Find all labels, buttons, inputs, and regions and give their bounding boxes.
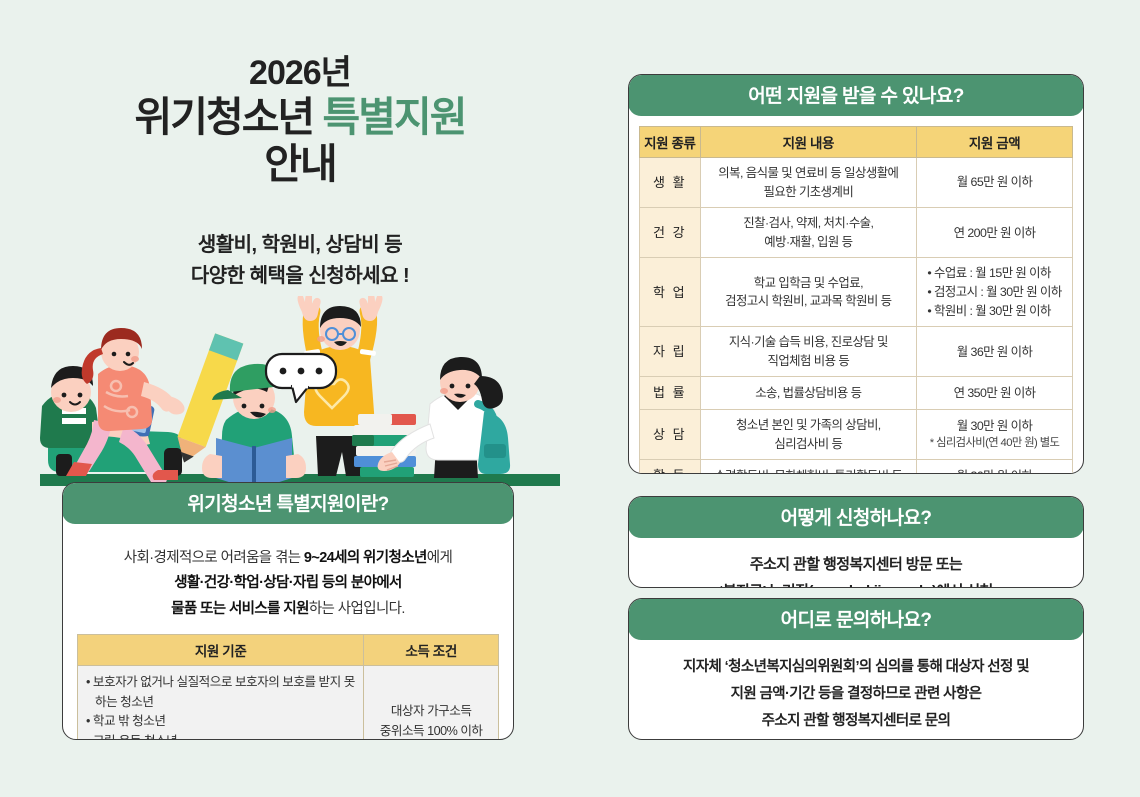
left-column: 2026년 위기청소년 특별지원 안내 생활비, 학원비, 상담비 등 다양한 … — [0, 0, 600, 797]
support-category: 활 동 — [640, 460, 701, 474]
criteria-header-standard: 지원 기준 — [78, 635, 364, 666]
about-line-1: 사회·경제적으로 어려움을 겪는 9~24세의 위기청소년에게 — [83, 546, 493, 571]
lead-line-1: 생활비, 학원비, 상담비 등 — [0, 230, 600, 261]
support-amount-line: 월 30만 원 이하 — [923, 467, 1066, 474]
support-amount: 월 30만 원 이하 * 심리검사비(연 40만 원) 별도 — [917, 409, 1073, 459]
table-row: 자 립 지식·기술 습득 비용, 진로상담 및 직업체험 비용 등 월 36만 … — [640, 327, 1073, 377]
support-content-line: 직업체험 비용 등 — [707, 352, 911, 371]
support-amount: 월 36만 원 이하 — [917, 327, 1073, 377]
support-card-heading: 어떤 지원을 받을 수 있나요? — [628, 74, 1084, 116]
support-category: 건 강 — [640, 208, 701, 258]
criteria-item: • 고립·은둔 청소년 — [86, 732, 355, 740]
about-line-2: 생활·건강·학업·상담·자립 등의 분야에서 — [83, 571, 493, 596]
apply-line-2[interactable]: ‘복지로’ 누리집(www.bokjiro.go.kr)에서 신청 — [639, 578, 1073, 588]
support-amount-line: 월 30만 원 이하 — [923, 417, 1066, 436]
table-row: 법 률 소송, 법률상담비용 등 연 350만 원 이하 — [640, 377, 1073, 410]
page-title: 2026년 위기청소년 특별지원 안내 — [0, 54, 600, 188]
table-row: 생 활 의복, 음식물 및 연료비 등 일상생활에 필요한 기초생계비 월 65… — [640, 158, 1073, 208]
about-line-1c: 에게 — [427, 550, 452, 566]
lead-line-2: 다양한 혜택을 신청하세요 ! — [0, 261, 600, 292]
contact-card-heading: 어디로 문의하나요? — [628, 598, 1084, 640]
support-content-line: 청소년 본인 및 가족의 상담비, — [707, 416, 911, 435]
table-row: 건 강 진찰·검사, 약제, 처치·수술, 예방·재활, 입원 등 연 200만… — [640, 208, 1073, 258]
title-main-line: 위기청소년 특별지원 — [0, 94, 600, 141]
support-amount-line: 월 65만 원 이하 — [923, 173, 1066, 192]
support-amount: 월 65만 원 이하 — [917, 158, 1073, 208]
support-amount-line: 연 200만 원 이하 — [923, 224, 1066, 243]
about-line-3a: 물품 또는 서비스를 지원 — [171, 601, 309, 617]
table-row: 상 담 청소년 본인 및 가족의 상담비, 심리검사비 등 월 30만 원 이하… — [640, 409, 1073, 459]
support-content-line: 수련활동비, 문화체험비, 특기활동비 등 — [707, 467, 911, 474]
title-main-suffix: 안내 — [0, 141, 600, 188]
support-category: 법 률 — [640, 377, 701, 410]
about-line-2b: 생활·건강·학업·상담·자립 등의 분야에서 — [174, 575, 402, 591]
contact-card-body: 지자체 ‘청소년복지심의위원회’의 심의를 통해 대상자 선정 및 지원 금액·… — [629, 640, 1083, 740]
support-content-line: 예방·재활, 입원 등 — [707, 233, 911, 252]
income-line-1: 대상자 가구소득 — [372, 702, 490, 722]
income-line-2: 중위소득 100% 이하 — [372, 722, 490, 740]
criteria-header-income: 소득 조건 — [364, 635, 499, 666]
criteria-table: 지원 기준 소득 조건 • 보호자가 없거나 실질적으로 보호자의 보호를 받지… — [77, 634, 499, 740]
support-amount-bullets: • 수업료 : 월 15만 원 이하 • 검정고시 : 월 30만 원 이하 •… — [927, 264, 1061, 320]
title-main-highlight: 특별지원 — [323, 94, 466, 140]
criteria-list-cell: • 보호자가 없거나 실질적으로 보호자의 보호를 받지 못하는 청소년 • 학… — [78, 666, 364, 740]
support-amount-bullet: • 수업료 : 월 15만 원 이하 — [927, 264, 1061, 283]
support-table-header-row: 지원 종류 지원 내용 지원 금액 — [640, 127, 1073, 158]
support-content: 지식·기술 습득 비용, 진로상담 및 직업체험 비용 등 — [700, 327, 917, 377]
criteria-table-row: • 보호자가 없거나 실질적으로 보호자의 보호를 받지 못하는 청소년 • 학… — [78, 666, 499, 740]
about-card-heading: 위기청소년 특별지원이란? — [62, 482, 514, 524]
support-content-line: 학교 입학금 및 수업료, — [707, 274, 911, 293]
support-content-line: 의복, 음식물 및 연료비 등 일상생활에 — [707, 164, 911, 183]
contact-line-3: 주소지 관할 행정복지센터로 문의 — [639, 708, 1073, 735]
support-content-line: 필요한 기초생계비 — [707, 183, 911, 202]
criteria-item: • 보호자가 없거나 실질적으로 보호자의 보호를 받지 못하는 청소년 — [86, 673, 355, 712]
support-amount: 연 350만 원 이하 — [917, 377, 1073, 410]
about-description: 사회·경제적으로 어려움을 겪는 9~24세의 위기청소년에게 생활·건강·학업… — [77, 536, 499, 634]
support-header-amount: 지원 금액 — [917, 127, 1073, 158]
support-header-content: 지원 내용 — [700, 127, 917, 158]
support-content-line: 진찰·검사, 약제, 처치·수술, — [707, 214, 911, 233]
support-amount: • 수업료 : 월 15만 원 이하 • 검정고시 : 월 30만 원 이하 •… — [917, 258, 1073, 327]
criteria-item: • 학교 밖 청소년 — [86, 712, 355, 732]
support-header-category: 지원 종류 — [640, 127, 701, 158]
about-line-1b: 9~24세의 위기청소년 — [304, 550, 427, 566]
contact-line-1: 지자체 ‘청소년복지심의위원회’의 심의를 통해 대상자 선정 및 — [639, 654, 1073, 681]
support-amount-bullet: • 검정고시 : 월 30만 원 이하 — [927, 283, 1061, 302]
support-amount: 월 30만 원 이하 — [917, 460, 1073, 474]
support-category: 학 업 — [640, 258, 701, 327]
support-card: 어떤 지원을 받을 수 있나요? 지원 종류 지원 내용 지원 금액 생 활 — [628, 74, 1084, 474]
support-category: 상 담 — [640, 409, 701, 459]
apply-line-1: 주소지 관할 행정복지센터 방문 또는 — [639, 551, 1073, 578]
support-content: 학교 입학금 및 수업료, 검정고시 학원비, 교과목 학원비 등 — [700, 258, 917, 327]
support-category: 자 립 — [640, 327, 701, 377]
support-content-line: 검정고시 학원비, 교과목 학원비 등 — [707, 292, 911, 311]
support-amount: 연 200만 원 이하 — [917, 208, 1073, 258]
contact-line-2: 지원 금액·기간 등을 결정하므로 관련 사항은 — [639, 681, 1073, 708]
support-content: 청소년 본인 및 가족의 상담비, 심리검사비 등 — [700, 409, 917, 459]
about-card: 위기청소년 특별지원이란? 사회·경제적으로 어려움을 겪는 9~24세의 위기… — [62, 482, 514, 740]
support-amount-line: 월 36만 원 이하 — [923, 343, 1066, 362]
poster-canvas: 2026년 위기청소년 특별지원 안내 생활비, 학원비, 상담비 등 다양한 … — [0, 0, 1140, 797]
support-content-line: 소송, 법률상담비용 등 — [707, 384, 911, 403]
contact-card: 어디로 문의하나요? 지자체 ‘청소년복지심의위원회’의 심의를 통해 대상자 … — [628, 598, 1084, 740]
about-line-3b: 하는 사업입니다. — [309, 601, 405, 617]
title-year: 2026년 — [0, 54, 600, 92]
support-content: 의복, 음식물 및 연료비 등 일상생활에 필요한 기초생계비 — [700, 158, 917, 208]
support-content-line: 심리검사비 등 — [707, 435, 911, 454]
support-content: 소송, 법률상담비용 등 — [700, 377, 917, 410]
about-line-1a: 사회·경제적으로 어려움을 겪는 — [124, 550, 304, 566]
about-line-3: 물품 또는 서비스를 지원하는 사업입니다. — [83, 597, 493, 622]
criteria-table-header-row: 지원 기준 소득 조건 — [78, 635, 499, 666]
support-table: 지원 종류 지원 내용 지원 금액 생 활 의복, 음식물 및 연료비 등 일상… — [639, 126, 1073, 474]
table-row: 학 업 학교 입학금 및 수업료, 검정고시 학원비, 교과목 학원비 등 • … — [640, 258, 1073, 327]
apply-card-body: 주소지 관할 행정복지센터 방문 또는 ‘복지로’ 누리집(www.bokjir… — [629, 538, 1083, 588]
support-category: 생 활 — [640, 158, 701, 208]
table-row: 활 동 수련활동비, 문화체험비, 특기활동비 등 월 30만 원 이하 — [640, 460, 1073, 474]
support-content: 수련활동비, 문화체험비, 특기활동비 등 — [700, 460, 917, 474]
about-card-body: 사회·경제적으로 어려움을 겪는 9~24세의 위기청소년에게 생활·건강·학업… — [63, 524, 513, 740]
support-content-line: 지식·기술 습득 비용, 진로상담 및 — [707, 333, 911, 352]
apply-card: 어떻게 신청하나요? 주소지 관할 행정복지센터 방문 또는 ‘복지로’ 누리집… — [628, 496, 1084, 588]
criteria-income-cell: 대상자 가구소득 중위소득 100% 이하 — [364, 666, 499, 740]
support-card-body: 지원 종류 지원 내용 지원 금액 생 활 의복, 음식물 및 연료비 등 일상… — [629, 116, 1083, 474]
apply-card-heading: 어떻게 신청하나요? — [628, 496, 1084, 538]
support-amount-line: 연 350만 원 이하 — [923, 384, 1066, 403]
students-reading-illustration — [40, 296, 560, 486]
lead-text: 생활비, 학원비, 상담비 등 다양한 혜택을 신청하세요 ! — [0, 230, 600, 292]
title-main-prefix: 위기청소년 — [135, 94, 323, 140]
support-amount-note: * 심리검사비(연 40만 원) 별도 — [923, 435, 1066, 452]
support-content: 진찰·검사, 약제, 처치·수술, 예방·재활, 입원 등 — [700, 208, 917, 258]
support-amount-bullet: • 학원비 : 월 30만 원 이하 — [927, 302, 1061, 321]
